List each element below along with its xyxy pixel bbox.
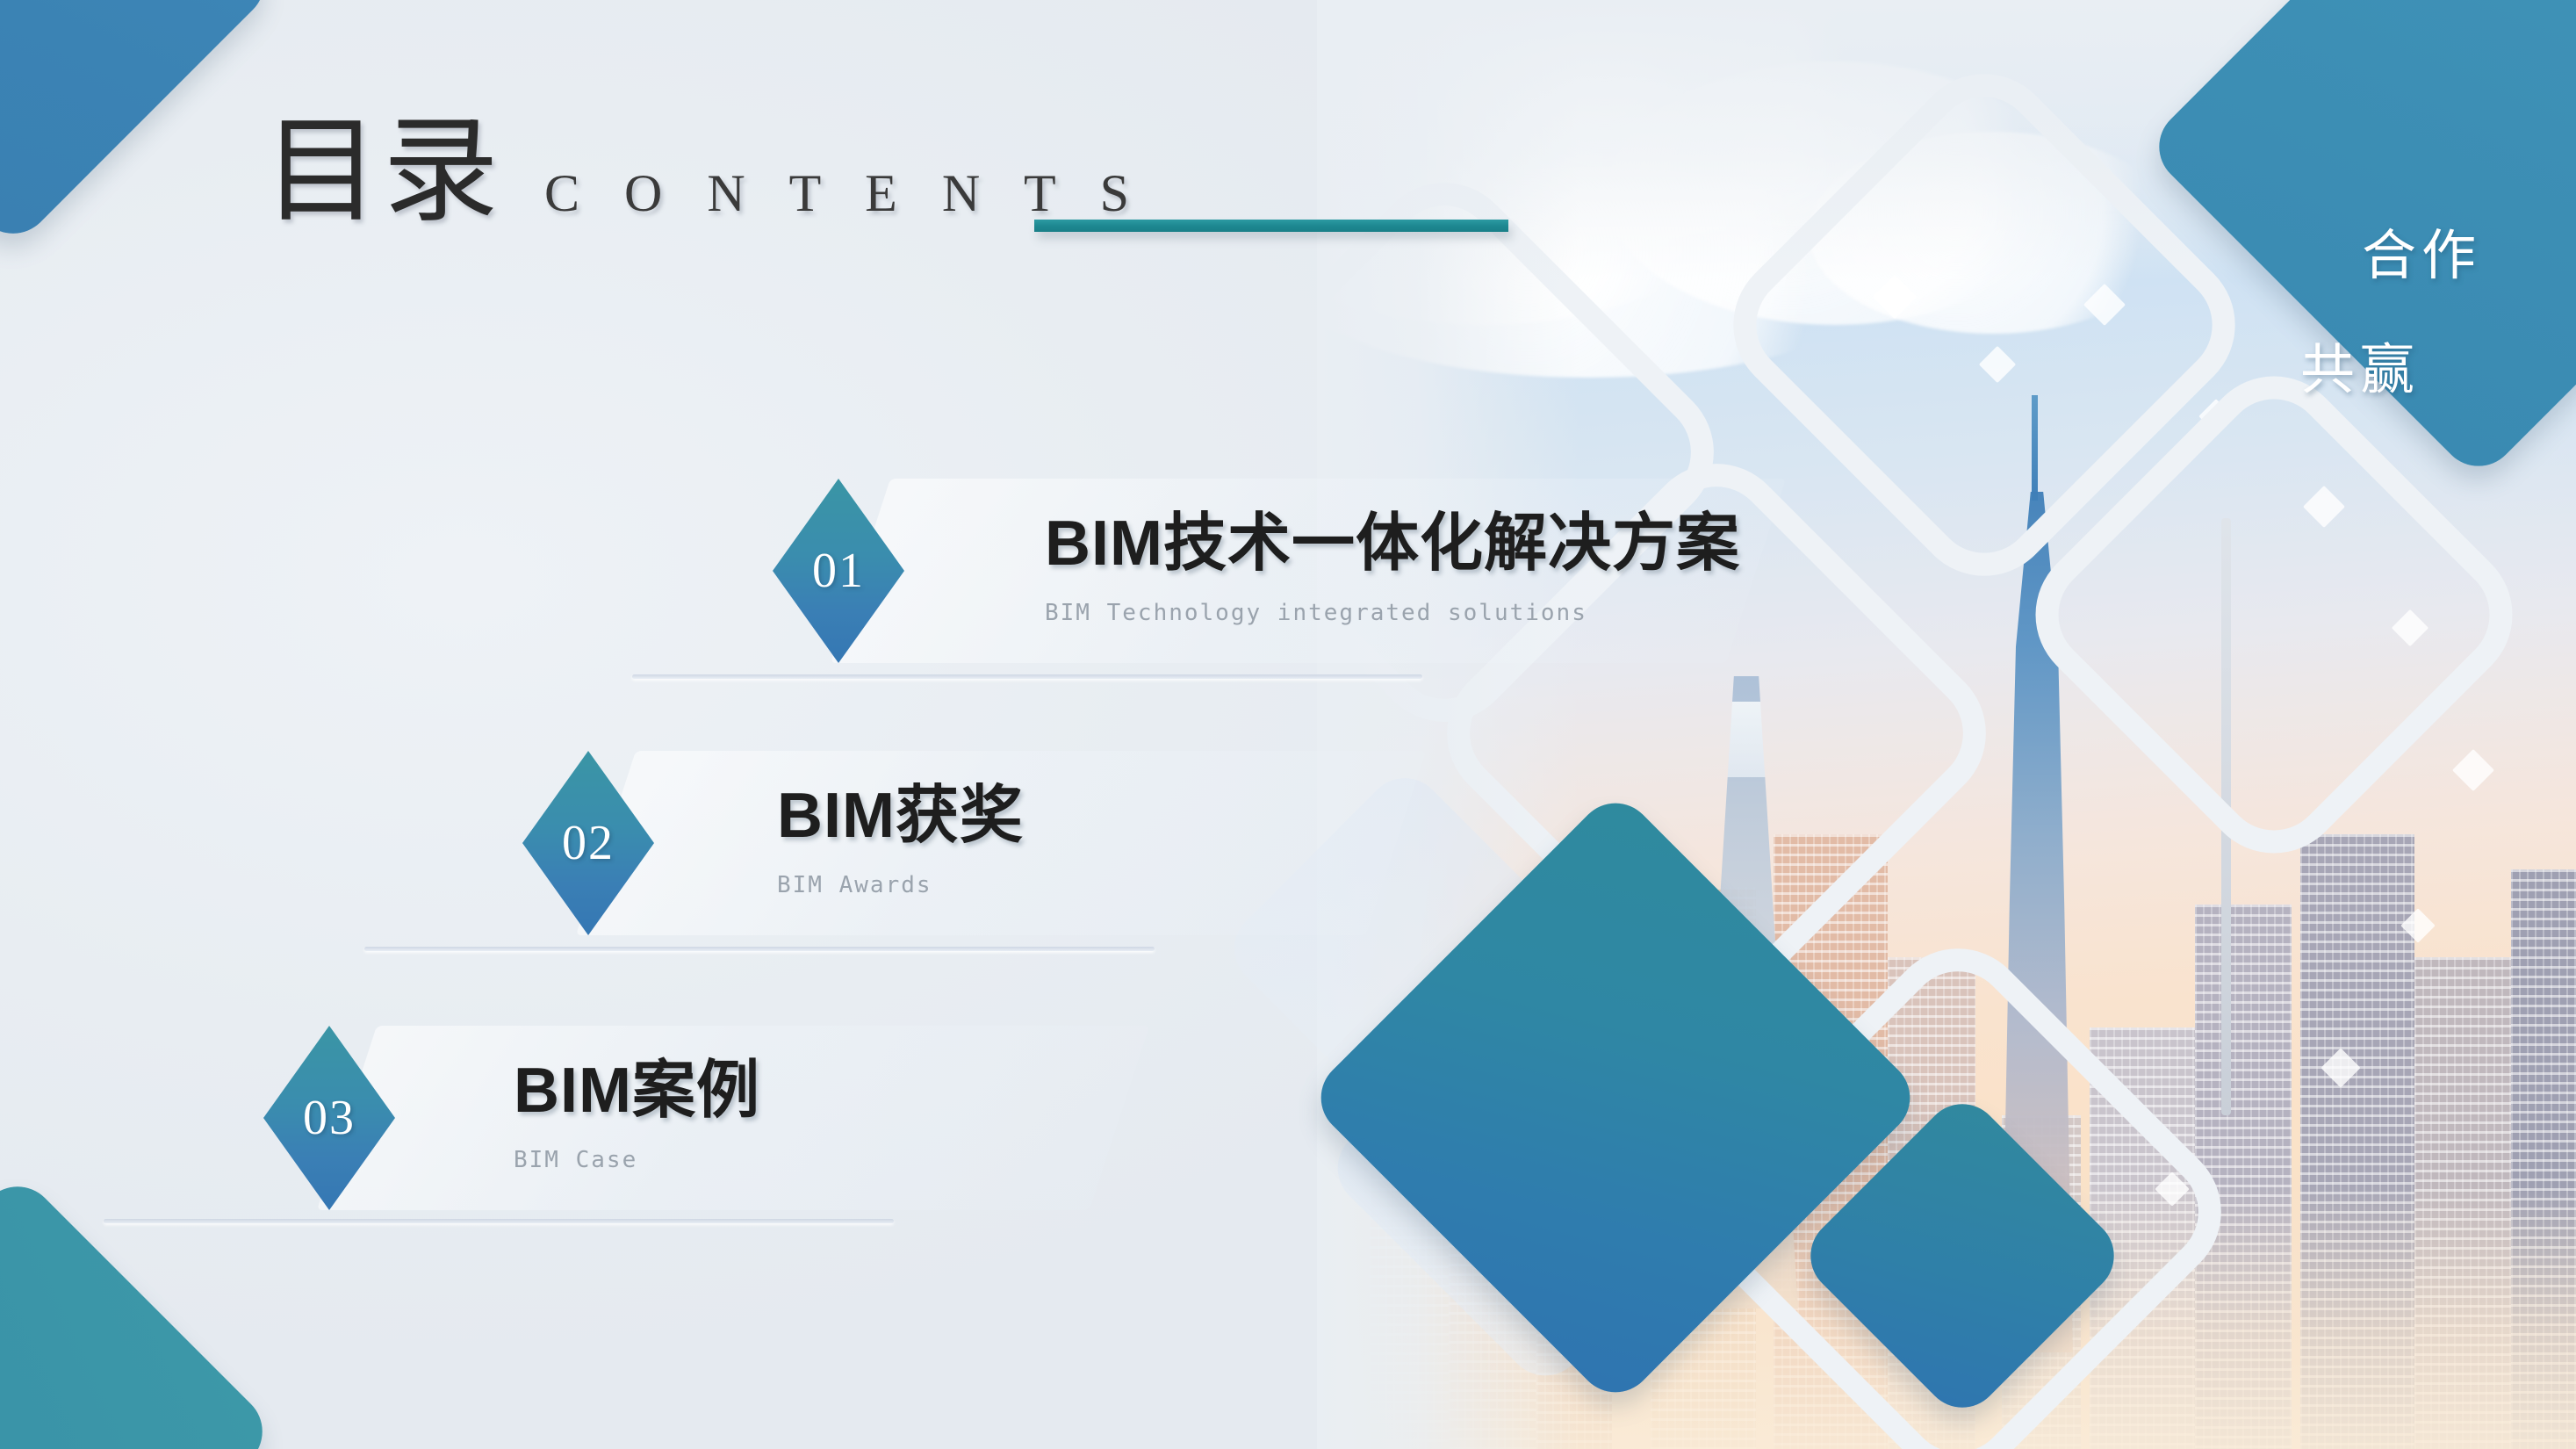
slide-root: 合作 共赢 目录 C O N T E N T S 01 BIM技术一体化解决方案…: [0, 0, 2576, 1449]
toc-item-number: 03: [303, 1090, 356, 1146]
toc-item-text-group: BIM案例 BIM Case: [514, 1059, 760, 1173]
toc-item-number: 01: [812, 543, 865, 599]
toc-item-02[interactable]: 02 BIM获奖 BIM Awards: [522, 751, 1506, 935]
page-title-cn: 目录: [263, 114, 502, 230]
page-title-en: C O N T E N T S: [544, 167, 1145, 220]
corner-diamond-bottom-left: [0, 1171, 278, 1449]
toc-item-title: BIM案例: [514, 1059, 760, 1122]
toc-item-subtitle: BIM Case: [514, 1147, 760, 1173]
toc-item-01[interactable]: 01 BIM技术一体化解决方案 BIM Technology integrate…: [773, 479, 1791, 663]
corner-diamond-top-left: [0, 0, 280, 249]
toc-item-title: BIM技术一体化解决方案: [1045, 512, 1740, 575]
partner-slogan-line1: 合作: [2362, 211, 2481, 290]
toc-divider: [632, 674, 1422, 679]
page-title: 目录 C O N T E N T S: [263, 114, 1145, 230]
toc-item-text-group: BIM获奖 BIM Awards: [777, 784, 1024, 898]
toc-item-03[interactable]: 03 BIM案例 BIM Case: [263, 1026, 1229, 1210]
toc-divider: [104, 1219, 894, 1223]
toc-item-subtitle: BIM Technology integrated solutions: [1045, 600, 1740, 626]
toc-item-text-group: BIM技术一体化解决方案 BIM Technology integrated s…: [1045, 512, 1740, 626]
toc-item-number: 02: [562, 815, 615, 871]
partner-slogan-line2: 共赢: [2300, 325, 2420, 404]
title-rule: [1034, 220, 1508, 232]
toc-item-subtitle: BIM Awards: [777, 872, 1024, 898]
toc-divider: [364, 947, 1155, 951]
toc-item-title: BIM获奖: [777, 784, 1024, 847]
